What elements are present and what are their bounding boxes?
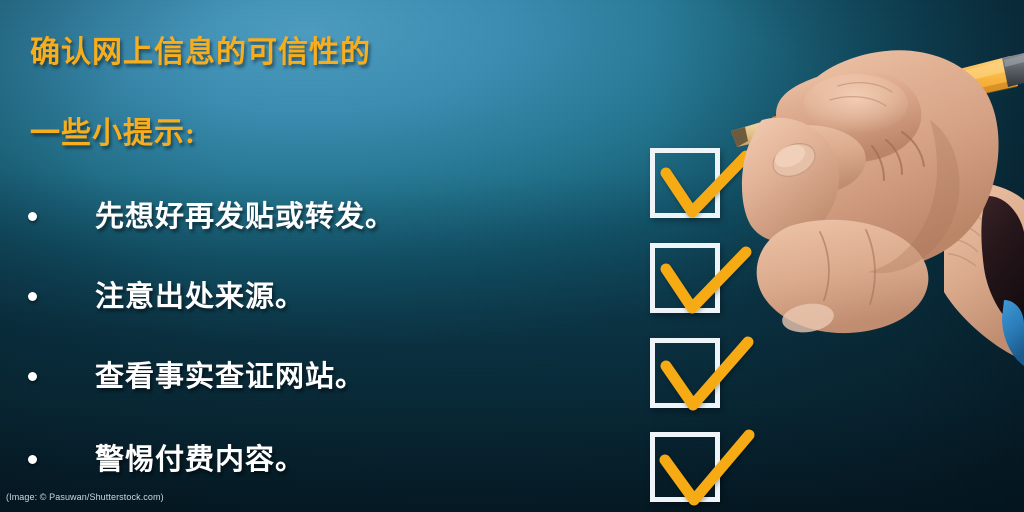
slide-canvas: 确认网上信息的可信性的 一些小提示: 先想好再发贴或转发。 注意出处来源。 查看… [0,0,1024,512]
bullet-dot-icon [28,372,37,381]
list-item-label: 查看事实查证网站。 [95,353,365,395]
list-item-label: 注意出处来源。 [95,273,305,315]
list-item-label: 警惕付费内容。 [95,436,305,478]
list-item-label: 先想好再发贴或转发。 [95,193,395,235]
list-item: 查看事实查证网站。 [28,353,365,395]
image-credit: (Image: © Pasuwan/Shutterstock.com) [6,492,164,502]
page-title-line-1: 确认网上信息的可信性的 [30,27,371,71]
bullet-dot-icon [28,292,37,301]
list-item: 注意出处来源。 [28,273,305,315]
bullet-dot-icon [28,212,37,221]
text-content: 确认网上信息的可信性的 一些小提示: 先想好再发贴或转发。 注意出处来源。 查看… [0,0,1024,512]
list-item: 警惕付费内容。 [28,436,305,478]
page-title-line-2: 一些小提示: [30,108,196,152]
list-item: 先想好再发贴或转发。 [28,193,395,235]
bullet-dot-icon [28,455,37,464]
